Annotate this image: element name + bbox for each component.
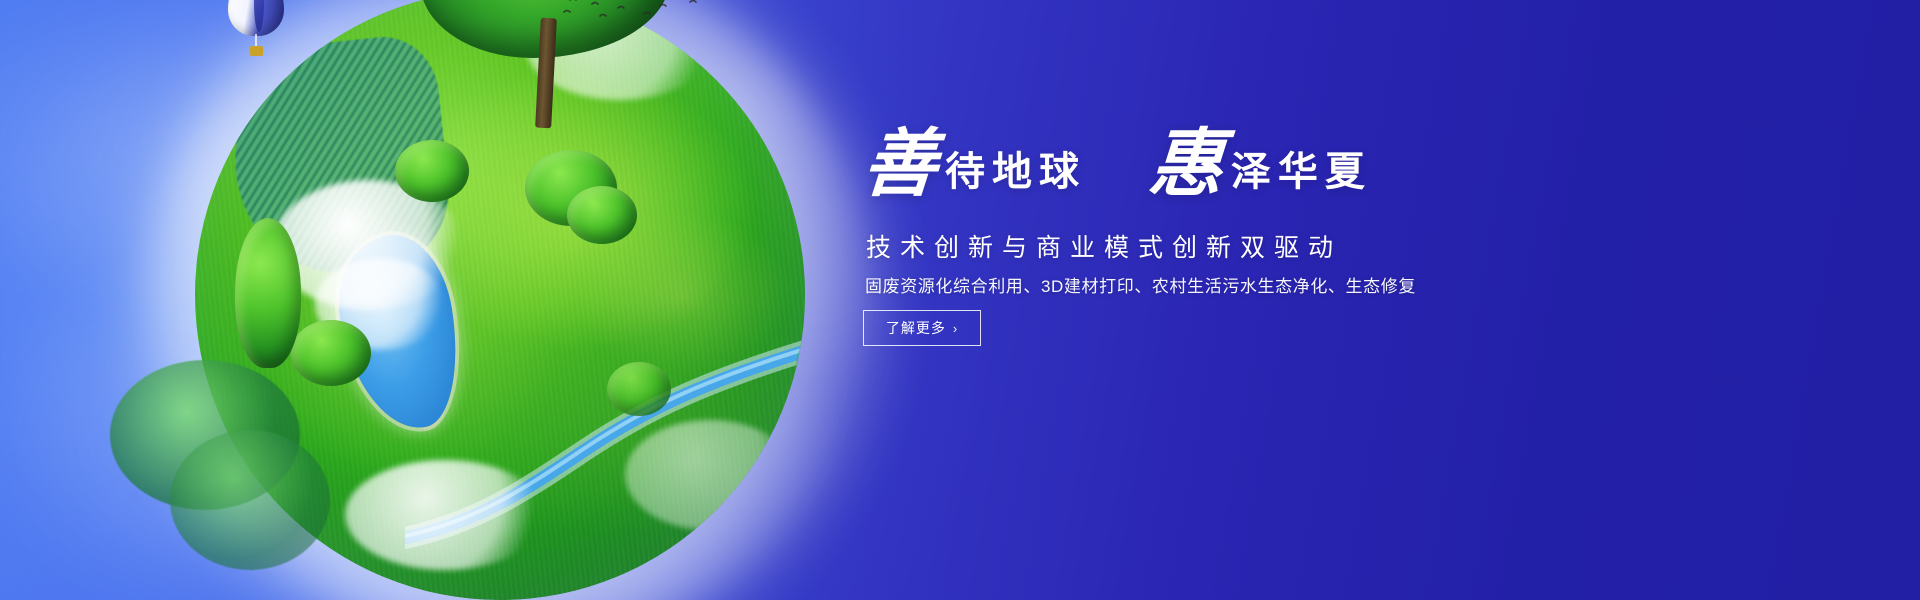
bush-tree: [291, 320, 371, 386]
bush-tree: [235, 218, 301, 368]
headline-phrase-1: 善 待地球: [863, 128, 1086, 202]
description: 固废资源化综合利用、3D建材打印、农村生活污水生态净化、生态修复: [865, 272, 1416, 297]
headline-rest-chars: 泽华夏: [1231, 152, 1372, 192]
hot-air-balloon-icon: [228, 0, 284, 62]
learn-more-label: 了解更多: [886, 318, 946, 338]
headline-phrase-2: 惠 泽华夏: [1149, 128, 1372, 202]
planet-cloud: [625, 420, 795, 530]
bush-tree: [607, 362, 671, 416]
banner-content: 善 待地球 惠 泽华夏 技术创新与商业模式创新双驱动 固废资源化综合利用、3D建…: [863, 0, 1563, 600]
headline-accent-char: 惠: [1146, 128, 1225, 202]
bush-tree: [567, 186, 637, 244]
learn-more-button[interactable]: 了解更多 ›: [863, 310, 981, 346]
forest-silhouette: [170, 430, 330, 570]
chevron-right-icon: ›: [953, 322, 958, 335]
bush-tree: [395, 140, 469, 202]
headline-accent-char: 善: [860, 128, 939, 202]
hero-banner: 善 待地球 惠 泽华夏 技术创新与商业模式创新双驱动 固废资源化综合利用、3D建…: [0, 0, 1920, 600]
bird-flock-icon: [540, 0, 700, 26]
planet-cloud: [345, 460, 545, 570]
balloon-basket: [250, 46, 263, 56]
green-planet-illustration: [140, 0, 880, 600]
headline: 善 待地球 惠 泽华夏: [863, 128, 1563, 220]
headline-rest-chars: 待地球: [945, 152, 1086, 192]
subtitle: 技术创新与商业模式创新双驱动: [866, 228, 1342, 264]
